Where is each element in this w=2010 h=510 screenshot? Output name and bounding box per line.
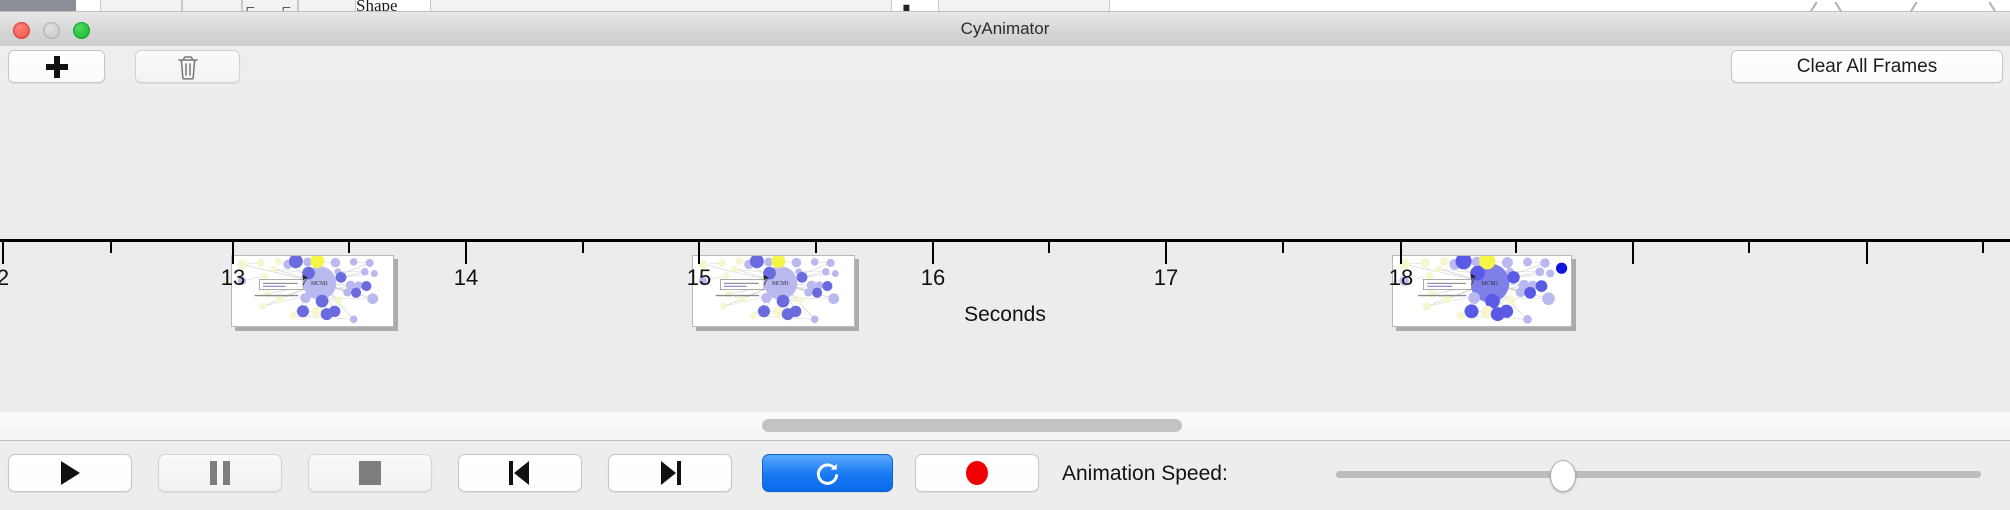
loop-button[interactable]	[762, 454, 893, 492]
axis-tick-label: 2	[0, 265, 9, 291]
axis-tick	[1866, 242, 1868, 264]
background-segment	[298, 0, 356, 11]
trash-icon	[176, 53, 200, 81]
cyanimator-window: ⌐ ⌐ Shape ▮ CyAnimator Clear All Frames	[0, 0, 2010, 510]
axis-tick	[932, 242, 934, 264]
axis-title: Seconds	[0, 303, 2010, 327]
background-segment	[938, 0, 1110, 11]
transport-bar: Animation Speed:	[0, 441, 2010, 510]
svg-text:MCM1: MCM1	[1481, 281, 1498, 287]
toolbar: Clear All Frames	[0, 46, 2010, 88]
axis-tick	[698, 242, 700, 264]
axis-tick	[1165, 242, 1167, 264]
axis-tick	[2, 242, 4, 264]
axis-tick-label: 16	[921, 265, 945, 291]
axis-tick	[582, 242, 584, 253]
animation-speed-slider-thumb[interactable]	[1550, 460, 1576, 492]
title-bar: CyAnimator	[0, 12, 2010, 47]
animation-speed-label: Animation Speed:	[1062, 462, 1228, 486]
add-frame-button[interactable]	[8, 50, 105, 83]
background-segment	[430, 0, 892, 11]
background-segment	[100, 0, 182, 11]
axis-tick	[815, 242, 817, 253]
axis-tick-label: 15	[687, 265, 711, 291]
background-dark-tab	[0, 0, 76, 11]
timeline-scrollbar-thumb[interactable]	[762, 419, 1182, 432]
axis-tick	[1515, 242, 1517, 253]
play-button[interactable]	[8, 454, 132, 492]
axis-tick	[348, 242, 350, 253]
stop-button[interactable]	[308, 454, 432, 492]
axis-tick	[1632, 242, 1634, 264]
skip-first-icon	[508, 461, 532, 485]
animation-speed-slider[interactable]	[1336, 471, 1981, 478]
loop-icon	[814, 459, 842, 487]
timeline-panel[interactable]: MCM1MCM1MCM1 2131415161718 Seconds	[0, 87, 2010, 413]
window-title: CyAnimator	[0, 12, 2010, 46]
axis-tick	[232, 242, 234, 264]
timeline-scrollbar[interactable]	[0, 412, 2010, 441]
axis-tick-label: 18	[1389, 265, 1413, 291]
plus-icon	[46, 56, 68, 78]
play-icon	[61, 461, 80, 485]
skip-last-icon	[658, 461, 682, 485]
pause-button[interactable]	[158, 454, 282, 492]
axis-tick-label: 14	[454, 265, 478, 291]
svg-text:MCM1: MCM1	[311, 281, 328, 287]
clear-all-frames-button[interactable]: Clear All Frames	[1731, 50, 2003, 83]
axis-tick	[465, 242, 467, 264]
axis-tick	[1982, 242, 1984, 253]
axis-tick-label: 17	[1154, 265, 1178, 291]
pause-icon	[210, 461, 230, 485]
timeline-axis	[0, 239, 2010, 242]
axis-tick	[1748, 242, 1750, 253]
axis-tick	[1282, 242, 1284, 253]
axis-tick	[1048, 242, 1050, 253]
record-icon	[966, 461, 988, 485]
skip-first-button[interactable]	[458, 454, 582, 492]
skip-last-button[interactable]	[608, 454, 732, 492]
background-segment	[182, 0, 242, 11]
delete-frame-button[interactable]	[135, 50, 240, 83]
svg-text:MCM1: MCM1	[772, 281, 789, 287]
clear-all-frames-label: Clear All Frames	[1797, 56, 1937, 78]
axis-tick	[1400, 242, 1402, 264]
record-button[interactable]	[915, 454, 1039, 492]
axis-tick-label: 13	[221, 265, 245, 291]
axis-tick	[110, 242, 112, 253]
stop-icon	[359, 461, 381, 485]
